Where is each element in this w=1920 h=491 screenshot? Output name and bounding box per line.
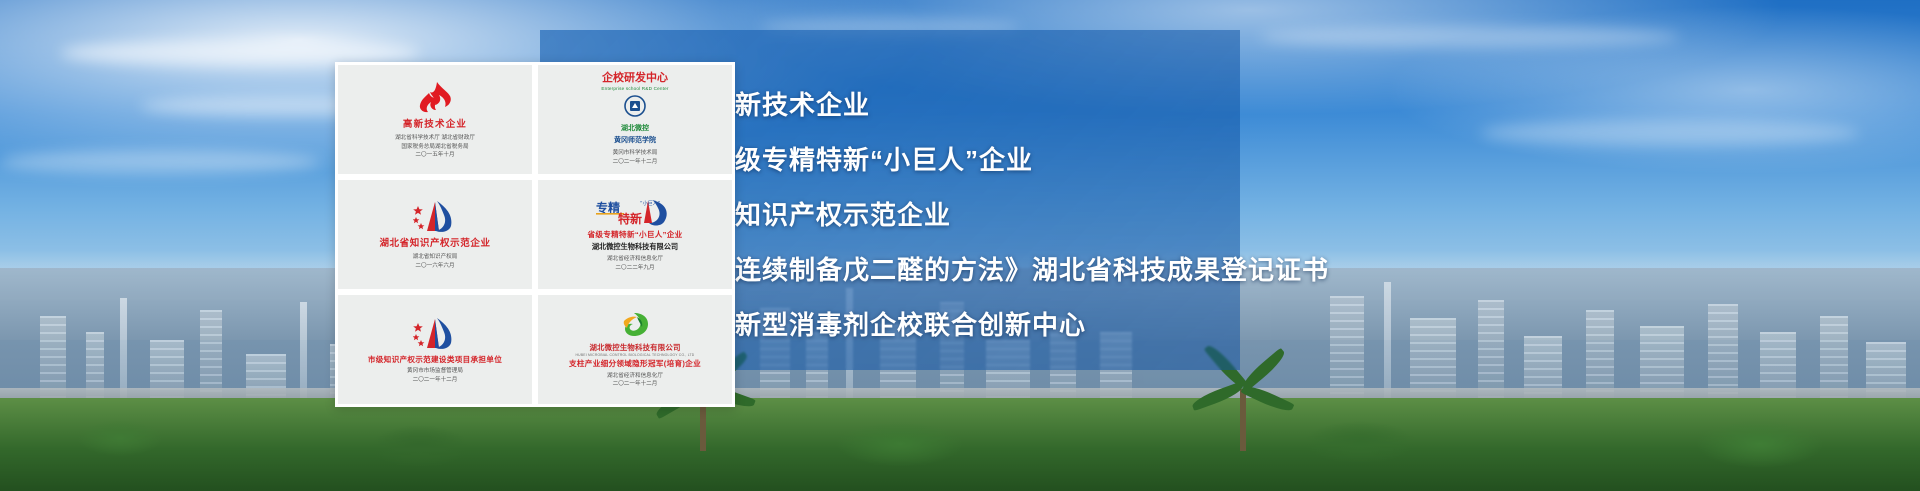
certificate-title: 企校研发中心	[602, 72, 668, 86]
certificate-title: 市级知识产权示范建设类项目承担单位	[368, 355, 502, 364]
certificate-company: 湖北微控生物科技有限公司	[592, 242, 678, 253]
certificate-title: 高新技术企业	[403, 119, 467, 131]
issuer-line: 湖北省科学技术厅 湖北省财政厅	[395, 135, 475, 141]
green-leaf-icon	[620, 310, 650, 340]
cloud-wisp	[1260, 26, 1680, 48]
certificate-company: 湖北微控生物科技有限公司	[589, 342, 680, 353]
certificate-card[interactable]: 专精 特新 “小巨人” 省级专精特新“小巨人”企业 湖北微控生物科技有限公司 湖…	[538, 180, 732, 289]
svg-text:“小巨人”: “小巨人”	[640, 200, 661, 207]
certificate-card[interactable]: 湖北省知识产权示范企业 湖北省知识产权局 二〇一六年六月	[338, 180, 532, 289]
cloud-wisp	[1480, 120, 1860, 146]
landscaping	[0, 398, 1920, 491]
issuer-line: 国家税务总局湖北省税务局	[401, 144, 468, 150]
certificate-grid: 高新技术企业 湖北省科学技术厅 湖北省财政厅 国家税务总局湖北省税务局 二〇一五…	[335, 62, 735, 407]
certificate-date: 二〇二一年十二月	[413, 377, 458, 383]
ip-sail-icon	[413, 315, 457, 353]
flame-torch-icon	[417, 79, 453, 117]
certificate-title-english: Enterprise school R&D Center	[601, 86, 668, 91]
banner-stage: 全 隐患都可以找到消除和控制的方法 01 国家高新技术企业 02 湖北省级专精	[0, 0, 1920, 491]
list-item-label: 《一种连续制备戊二醛的方法》湖北省科技成果登记证书	[654, 250, 1329, 287]
school-emblem-icon	[624, 93, 646, 119]
certificate-issuer: 湖北省科学技术厅 湖北省财政厅 国家税务总局湖北省税务局 二〇一五年十月	[395, 134, 475, 160]
certificate-card[interactable]: 高新技术企业 湖北省科学技术厅 湖北省财政厅 国家税务总局湖北省税务局 二〇一五…	[338, 65, 532, 174]
issuer-line: 黄冈市市场监督管理局	[407, 368, 463, 374]
certificate-org-b: 黄冈师范学院	[614, 136, 656, 147]
certificate-date: 二〇一六年六月	[415, 263, 454, 269]
ip-sail-icon	[413, 198, 457, 236]
certificate-title: 湖北省知识产权示范企业	[379, 238, 490, 250]
certificate-card[interactable]: 湖北微控生物科技有限公司 HUBEI MICROBIAL CONTROL BIO…	[538, 295, 732, 404]
certificate-org-a: 湖北微控	[621, 124, 649, 135]
issuer-line: 湖北省知识产权局	[413, 254, 458, 260]
certificate-issuer: 湖北省知识产权局 二〇一六年六月	[413, 253, 458, 270]
certificate-date: 二〇二一年十二月	[613, 159, 658, 165]
certificate-card[interactable]: 企校研发中心 Enterprise school R&D Center 湖北微控…	[538, 65, 732, 174]
certificate-date: 二〇二一年十二月	[613, 381, 658, 387]
issuer-line: 湖北省经济和信息化厅	[607, 373, 663, 379]
certificate-title: 省级专精特新“小巨人”企业	[587, 230, 682, 239]
certificate-issuer: 湖北省经济和信息化厅 二〇二二年九月	[607, 255, 663, 272]
certificate-card[interactable]: 市级知识产权示范建设类项目承担单位 黄冈市市场监督管理局 二〇二一年十二月	[338, 295, 532, 404]
svg-text:专精: 专精	[596, 200, 620, 215]
certificate-title: 支柱产业细分领域隐形冠军(培育)企业	[569, 359, 701, 368]
svg-text:特新: 特新	[618, 211, 642, 226]
issuer-line: 湖北省经济和信息化厅	[607, 256, 663, 262]
certificate-date: 二〇二二年九月	[615, 265, 654, 271]
certificate-issuer: 黄冈市市场监督管理局 二〇二一年十二月	[407, 367, 463, 384]
certificate-date: 二〇一五年十月	[415, 152, 454, 158]
cloud-wisp	[0, 150, 320, 174]
certificate-issuer: 黄冈市科学技术局 二〇二一年十二月	[613, 149, 658, 166]
palm-trunk	[1240, 389, 1246, 451]
certificate-issuer: 湖北省经济和信息化厅 二〇二一年十二月	[607, 372, 663, 389]
certificate-company-english: HUBEI MICROBIAL CONTROL BIOLOGICAL TECHN…	[576, 353, 695, 357]
zhuanjing-texin-icon: 专精 特新 “小巨人”	[596, 196, 674, 228]
issuer-line: 黄冈市科学技术局	[613, 150, 658, 156]
